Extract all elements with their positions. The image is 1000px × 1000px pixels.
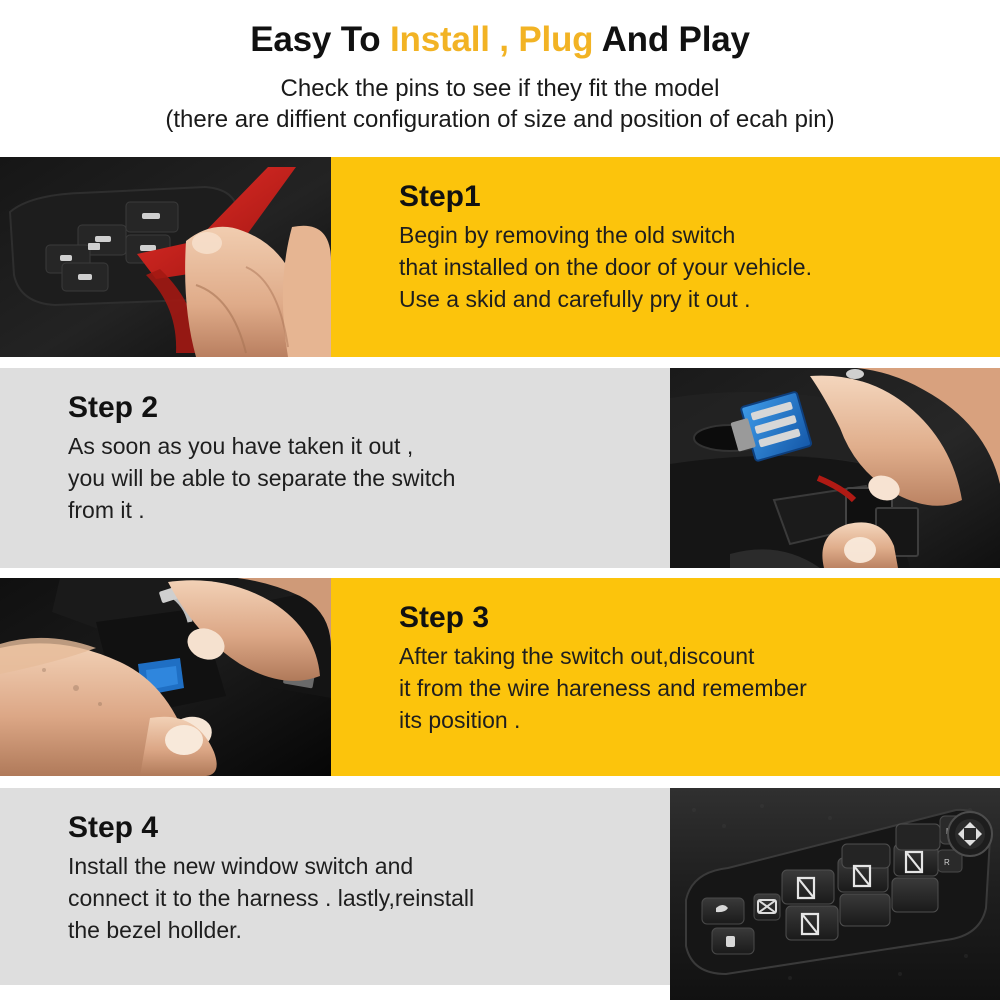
step-row-2: Step 2 As soon as you have taken it out … (0, 368, 1000, 568)
step-3-photo (0, 578, 331, 776)
product-instruction-infographic: Easy To Install , Plug And Play Check th… (0, 0, 1000, 1000)
step-1-panel: Step1 Begin by removing the old switch t… (331, 157, 1000, 357)
step-2-photo (670, 368, 1000, 568)
header: Easy To Install , Plug And Play Check th… (0, 0, 1000, 157)
title-part-2: And Play (593, 20, 749, 59)
title-part-1: Easy To (250, 20, 390, 59)
step-2-heading: Step 2 (68, 390, 670, 426)
step-4-photo: L R (670, 788, 1000, 1000)
step-row-1: Step1 Begin by removing the old switch t… (0, 157, 1000, 357)
photo-disconnect-harness-illustration (0, 578, 331, 776)
step-4-body: Install the new window switch and connec… (68, 850, 670, 946)
page-title: Easy To Install , Plug And Play (0, 19, 1000, 61)
photo-separate-switch-illustration (670, 368, 1000, 568)
title-highlight: Install , Plug (390, 20, 593, 59)
subtitle-line-1: Check the pins to see if they fit the mo… (0, 73, 1000, 104)
photo-installed-switch-panel-illustration: L R (670, 788, 1000, 1000)
step-1-photo (0, 157, 331, 357)
step-1-heading: Step1 (399, 179, 1000, 215)
step-1-body: Begin by removing the old switch that in… (399, 219, 1000, 315)
step-row-3: Step 3 After taking the switch out,disco… (0, 578, 1000, 776)
photo-pry-switch-illustration (0, 157, 331, 357)
step-4-heading: Step 4 (68, 810, 670, 846)
step-3-heading: Step 3 (399, 600, 1000, 636)
svg-text:R: R (944, 858, 950, 867)
step-row-4: Step 4 Install the new window switch and… (0, 788, 1000, 985)
step-3-panel: Step 3 After taking the switch out,disco… (331, 578, 1000, 776)
step-2-panel: Step 2 As soon as you have taken it out … (0, 368, 670, 568)
subtitle-line-2: (there are diffient configuration of siz… (0, 104, 1000, 135)
step-3-body: After taking the switch out,discount it … (399, 640, 1000, 736)
step-2-body: As soon as you have taken it out , you w… (68, 430, 670, 526)
step-4-panel: Step 4 Install the new window switch and… (0, 788, 670, 985)
